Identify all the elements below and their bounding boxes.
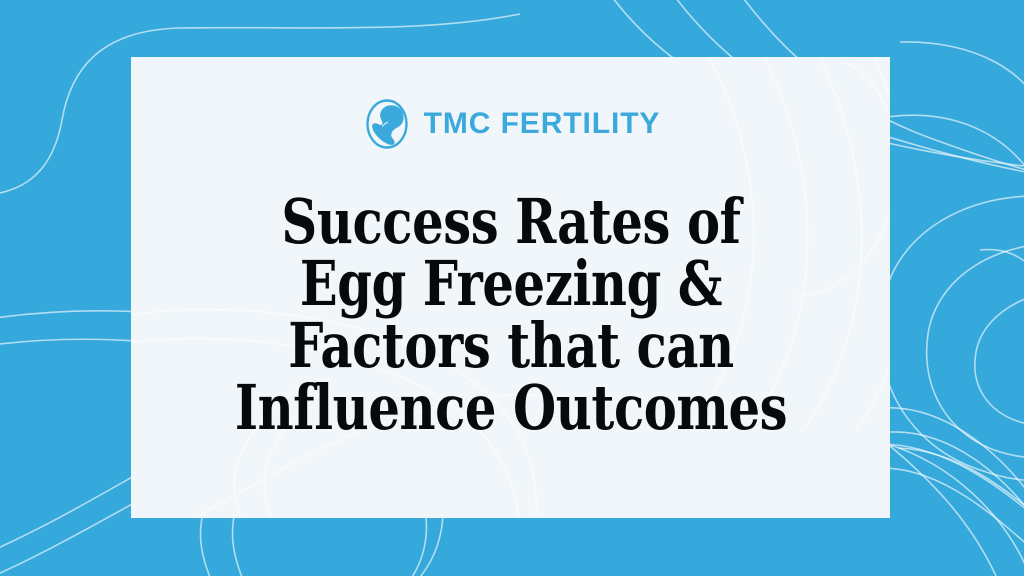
slide-title: Success Rates of Egg Freezing & Factors … [231,191,791,439]
title-line-1: Success Rates of [231,191,791,253]
presentation-slide: TMC FERTILITY Success Rates of Egg Freez… [0,0,1024,576]
content-card: TMC FERTILITY Success Rates of Egg Freez… [131,57,890,518]
title-line-2: Egg Freezing & [231,253,791,315]
card-content: TMC FERTILITY Success Rates of Egg Freez… [131,57,890,518]
title-line-3: Factors that can [231,315,791,377]
title-line-4: Influence Outcomes [231,377,791,439]
brand-wordmark: TMC FERTILITY [424,109,661,139]
brand-logo: TMC FERTILITY [361,98,661,150]
embryo-in-oval-icon [361,98,413,150]
